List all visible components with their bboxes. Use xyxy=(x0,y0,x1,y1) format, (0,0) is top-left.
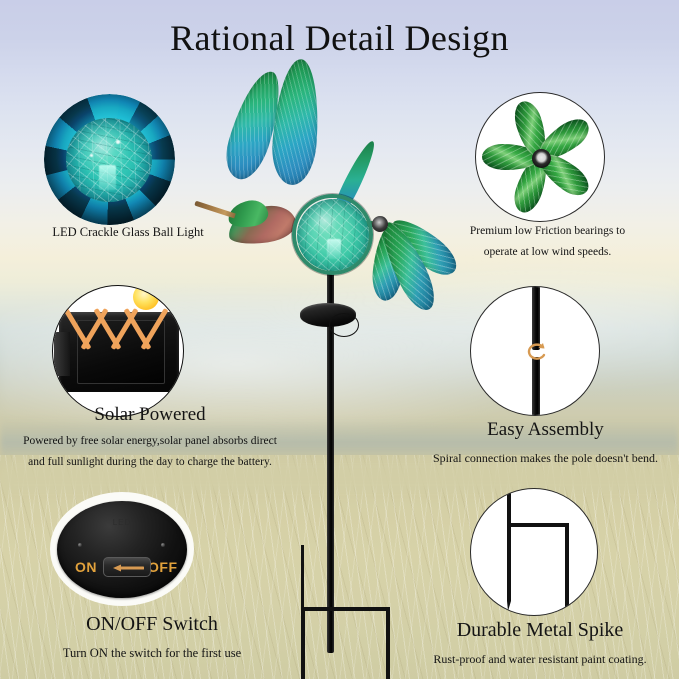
caption-line: Turn ON the switch for the first use xyxy=(8,642,296,665)
product-stake-crossbar xyxy=(301,607,389,611)
windmill-blades-icon xyxy=(475,92,605,222)
switch-screw xyxy=(78,543,82,547)
feature-title: Solar Powered xyxy=(0,403,300,427)
feature-premium-low-friction-bearings xyxy=(475,92,605,222)
caption-led-crackle-glass-ball-light: LED Crackle Glass Ball Light xyxy=(18,225,238,240)
product-hero-image xyxy=(196,55,486,675)
product-stake-left-prong xyxy=(301,607,305,679)
feature-solar-powered xyxy=(52,285,184,417)
spinner-hub xyxy=(372,216,388,232)
metal-stake-icon xyxy=(470,488,598,616)
feature-title: ON/OFF Switch xyxy=(8,612,296,637)
led-core xyxy=(99,165,116,190)
switch-on-label: ON xyxy=(75,559,97,575)
product-stake-right-prong xyxy=(386,607,390,679)
caption-line: operate at low wind speeds. xyxy=(430,242,665,263)
caption-solar-powered: Solar Powered Powered by free solar ener… xyxy=(0,403,300,473)
switch-screw xyxy=(161,543,165,547)
switch-off-label: OFF xyxy=(148,559,178,575)
feature-on-off-switch: LED ON OFF xyxy=(50,492,194,606)
hummingbird-beak xyxy=(194,201,235,219)
caption-line: Rust-proof and water resistant paint coa… xyxy=(404,648,676,670)
switch-housing: LED ON OFF xyxy=(57,501,187,598)
feature-title: Durable Metal Spike xyxy=(404,618,676,643)
caption-on-off-switch: ON/OFF Switch Turn ON the switch for the… xyxy=(8,612,296,665)
highlight-spark xyxy=(90,154,93,157)
hummingbird-wing-upper-right xyxy=(270,58,323,187)
switch-slider[interactable] xyxy=(103,557,151,577)
caption-line: LED Crackle Glass Ball Light xyxy=(18,225,238,240)
switch-emboss-text: LED xyxy=(113,518,132,527)
caption-easy-assembly: Easy Assembly Spiral connection makes th… xyxy=(412,418,679,469)
windmill-hub xyxy=(532,149,551,168)
caption-premium-low-friction-bearings: Premium low Friction bearings to operate… xyxy=(430,221,665,264)
product-stake-upper xyxy=(301,545,304,609)
stake-shape xyxy=(471,489,598,616)
sun-icon xyxy=(133,285,159,310)
spiral-connection-icon xyxy=(470,286,600,416)
caption-durable-metal-spike: Durable Metal Spike Rust-proof and water… xyxy=(404,618,676,670)
page-title: Rational Detail Design xyxy=(0,17,679,59)
caption-line: Spiral connection makes the pole doesn't… xyxy=(412,447,679,469)
glass-ball-icon xyxy=(44,94,175,225)
rotation-arrow-icon xyxy=(523,341,549,363)
caption-line: and full sunlight during the day to char… xyxy=(0,452,300,473)
arrow-left-icon xyxy=(112,564,144,572)
feature-led-crackle-glass-ball-light xyxy=(44,94,175,225)
toggle-switch-icon: LED ON OFF xyxy=(50,492,194,606)
caption-line: Powered by free solar energy,solar panel… xyxy=(0,431,300,452)
product-solar-wire-loop xyxy=(329,313,359,337)
illustration-canvas: Rational Detail Design xyxy=(0,0,679,679)
feature-easy-assembly xyxy=(470,286,600,416)
wing-texture xyxy=(270,58,323,187)
highlight-spark xyxy=(116,140,120,144)
pole-lower-section xyxy=(532,357,540,416)
solar-panel-icon xyxy=(52,285,184,417)
solar-panel-tab xyxy=(54,332,70,376)
glass-ball-inner xyxy=(66,118,152,202)
product-pole xyxy=(327,233,334,653)
product-glass-ball-ring xyxy=(292,194,373,275)
feature-title: Easy Assembly xyxy=(412,418,679,442)
feature-durable-metal-spike xyxy=(470,488,598,616)
caption-line: Premium low Friction bearings to xyxy=(430,221,665,242)
